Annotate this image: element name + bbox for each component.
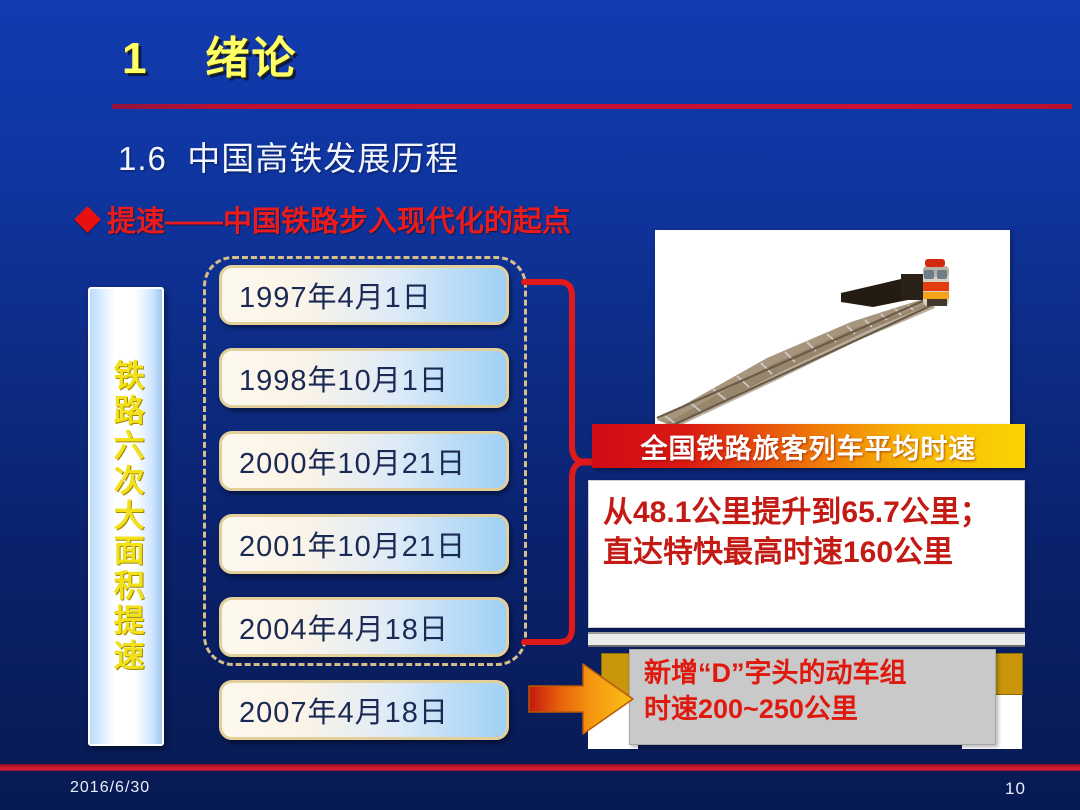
train-illustration-icon xyxy=(655,230,1010,426)
bullet-heading: 提速——中国铁路步入现代化的起点 xyxy=(78,198,571,240)
date-label: 2001年10月21日 xyxy=(222,523,466,565)
right-arrow-icon xyxy=(527,660,637,738)
callout-line-1: 新增“D”字头的动车组 xyxy=(644,656,995,692)
list-item[interactable]: 2000年10月21日 xyxy=(219,431,509,491)
footer-date: 2016/6/30 xyxy=(70,779,150,797)
vertical-label-bar: 铁路六次大面积提速 xyxy=(88,287,164,746)
diamond-bullet-icon xyxy=(74,206,101,233)
list-item[interactable]: 1998年10月1日 xyxy=(219,348,509,408)
statistics-line-1: 从48.1公里提升到65.7公里； xyxy=(603,493,1024,533)
title-divider xyxy=(112,104,1072,109)
footer-divider xyxy=(0,764,1080,771)
callout-line-2: 时速200~250公里 xyxy=(644,692,995,728)
date-label: 1997年4月1日 xyxy=(222,274,432,316)
page-title: 1 绪论 xyxy=(122,22,297,86)
footer-page-number: 10 xyxy=(1005,779,1026,799)
statistics-line-2: 直达特快最高时速160公里 xyxy=(603,533,1024,573)
statistics-panel: 从48.1公里提升到65.7公里； 直达特快最高时速160公里 xyxy=(588,480,1025,628)
banner-text: 全国铁路旅客列车平均时速 xyxy=(641,427,977,466)
date-label: 2007年4月18日 xyxy=(222,689,449,731)
list-item[interactable]: 2001年10月21日 xyxy=(219,514,509,574)
list-item[interactable]: 2004年4月18日 xyxy=(219,597,509,657)
date-label: 2004年4月18日 xyxy=(222,606,449,648)
list-item[interactable]: 2007年4月18日 xyxy=(219,680,509,740)
status-badge: 全国铁路旅客列车平均时速 xyxy=(592,424,1025,468)
section-subtitle: 1.6 中国高铁发展历程 xyxy=(118,132,459,180)
divider-strip xyxy=(588,632,1025,647)
vertical-label-text: 铁路六次大面积提速 xyxy=(108,359,143,674)
list-item[interactable]: 1997年4月1日 xyxy=(219,265,509,325)
date-label: 2000年10月21日 xyxy=(222,440,466,482)
train-photo xyxy=(655,230,1010,426)
callout-panel: 新增“D”字头的动车组 时速200~250公里 xyxy=(629,649,996,745)
bullet-heading-text: 提速——中国铁路步入现代化的起点 xyxy=(107,198,571,240)
date-label: 1998年10月1日 xyxy=(222,357,449,399)
slide-canvas: 1 绪论 1.6 中国高铁发展历程 提速——中国铁路步入现代化的起点 铁路六次大… xyxy=(0,0,1080,810)
timeline-date-list: 1997年4月1日 1998年10月1日 2000年10月21日 2001年10… xyxy=(219,265,509,763)
